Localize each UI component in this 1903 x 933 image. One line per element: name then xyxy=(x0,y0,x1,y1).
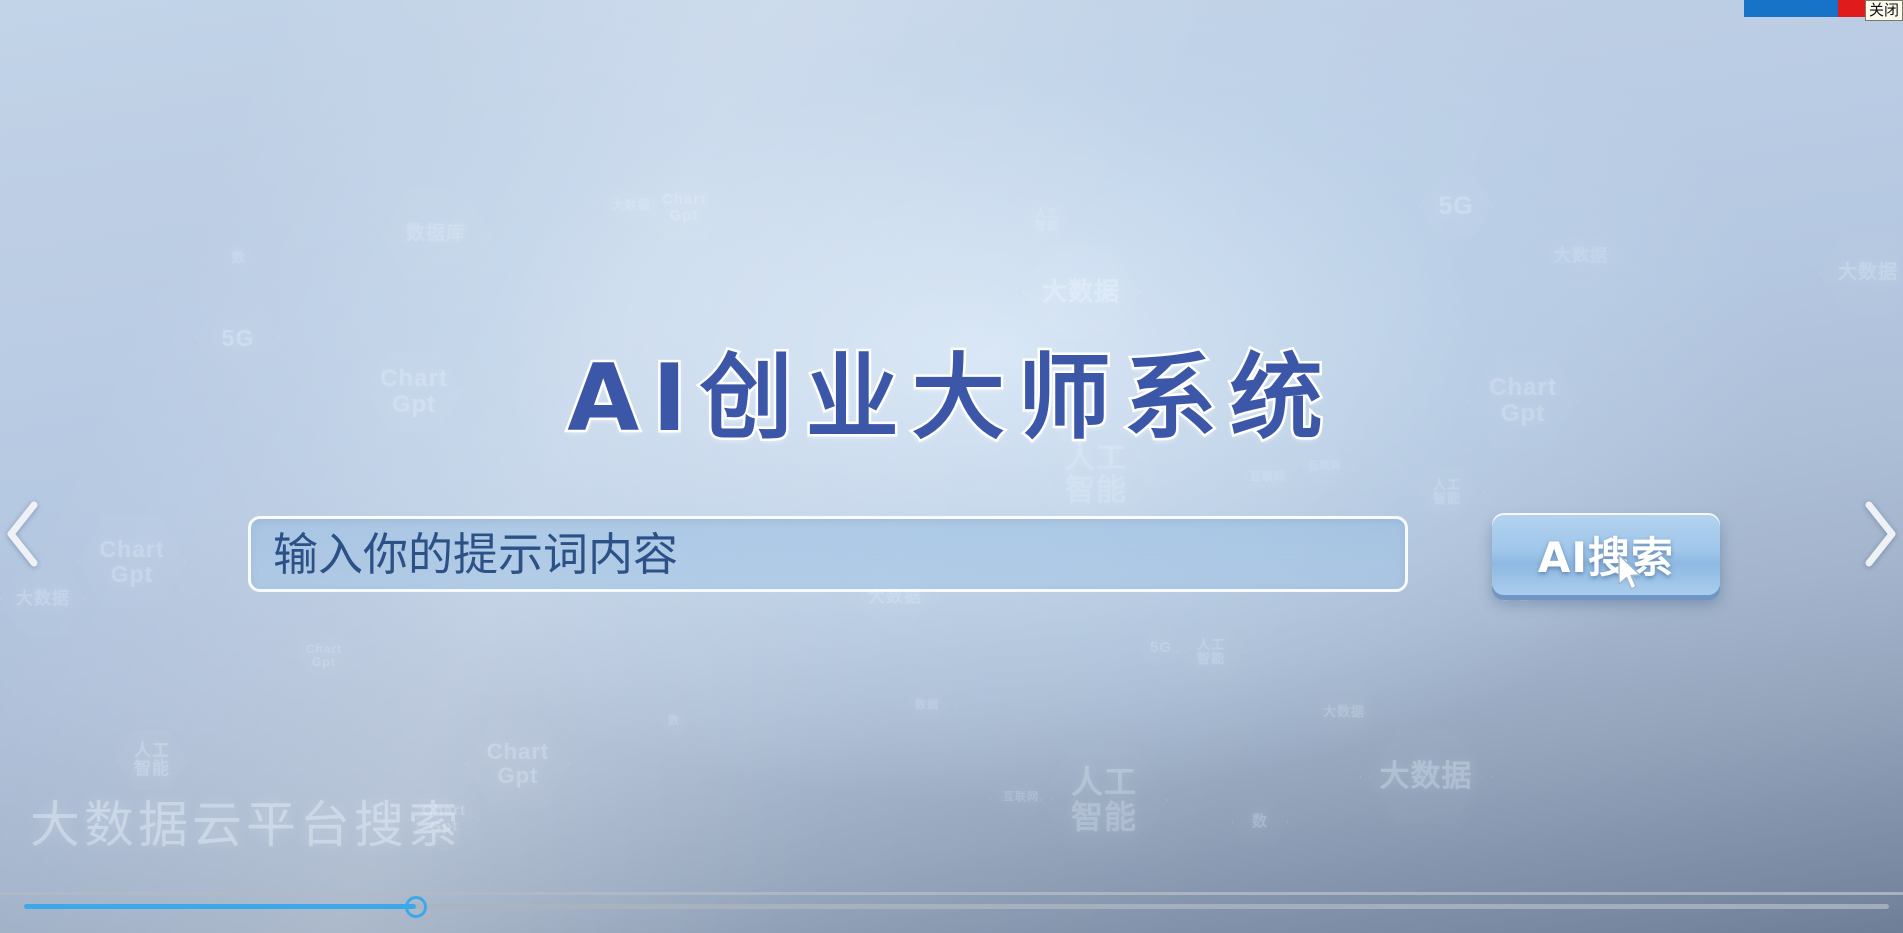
hex-outline xyxy=(597,175,665,235)
hex-inner-outline xyxy=(1317,689,1371,735)
page-title: AI创业大师系统 xyxy=(0,322,1903,457)
hex-outline xyxy=(645,172,723,244)
hex-inner-outline xyxy=(389,194,483,274)
hex-label: 数据 xyxy=(915,700,939,712)
hex-label: Chart Gpt xyxy=(99,537,164,587)
hex-outline xyxy=(1130,620,1192,676)
hex-inner-outline xyxy=(1369,727,1483,827)
bottom-watermark-text: 大数据云平台搜索 xyxy=(30,785,462,857)
hex-outline xyxy=(1176,620,1246,684)
hex-inner-outline xyxy=(907,689,947,723)
hex-outline xyxy=(898,680,956,732)
hex-inner-outline xyxy=(1185,629,1237,675)
background-hex-node: 数 xyxy=(650,700,698,744)
hex-outline xyxy=(1360,718,1492,836)
background-hex-node: Chart Gpt xyxy=(292,626,356,686)
background-hex-node: 数 xyxy=(1232,796,1288,848)
hex-label: 数 xyxy=(232,251,246,265)
slider-thumb[interactable] xyxy=(405,896,427,918)
background-hex-node: 数 xyxy=(215,236,263,280)
hex-label: 人工 智能 xyxy=(1071,765,1137,834)
hex-outline xyxy=(990,770,1052,826)
hex-label: 大数据 xyxy=(1042,279,1120,306)
hex-inner-outline xyxy=(117,729,187,791)
hex-label: 人工 智能 xyxy=(134,742,170,779)
hex-outline xyxy=(650,700,698,744)
hex-label: 大数据 xyxy=(1838,263,1898,284)
background-hex-node: 大数据 xyxy=(1308,680,1380,744)
hex-outline xyxy=(78,512,186,612)
hex-label: 数 xyxy=(1252,814,1268,830)
hex-outline xyxy=(466,716,570,812)
hex-inner-outline xyxy=(1241,805,1279,839)
hex-label: 大数据 xyxy=(1380,761,1473,793)
hex-label: 互联网 xyxy=(1309,462,1342,473)
hex-label: Chart Gpt xyxy=(487,740,549,788)
hex-label: 人工 智能 xyxy=(1197,638,1225,666)
hex-label: 互联网 xyxy=(1250,472,1286,484)
hex-label: 大数据 xyxy=(16,590,70,608)
hex-outline xyxy=(1016,192,1078,250)
background-hex-node: 大数据 xyxy=(0,560,86,638)
background-hex-node: 数据库 xyxy=(380,185,492,283)
hex-label: 人工 智能 xyxy=(1433,478,1461,506)
presentation-stage: 数据库大数据Chart Gpt5G大数据大数据人工 智能5G数Chart Gpt… xyxy=(0,0,1903,933)
hex-label: 人工 智能 xyxy=(1035,209,1059,233)
hex-inner-outline xyxy=(1829,239,1903,307)
hex-inner-outline xyxy=(1025,201,1069,241)
chevron-left-icon[interactable] xyxy=(2,497,46,571)
chevron-right-icon[interactable] xyxy=(1857,497,1901,571)
hex-inner-outline xyxy=(654,181,714,235)
hex-outline xyxy=(380,185,492,283)
timeline-slider[interactable] xyxy=(0,893,1903,919)
background-hex-node: 互联网 xyxy=(1237,450,1299,506)
hex-label: 大数据 xyxy=(1323,705,1365,719)
hex-inner-outline xyxy=(9,569,77,629)
hex-outline xyxy=(0,560,86,638)
hex-inner-outline xyxy=(301,635,347,677)
prompt-input[interactable] xyxy=(248,516,1408,592)
hex-inner-outline xyxy=(1139,629,1183,667)
hex-label: 互联网 xyxy=(1003,792,1039,804)
background-hex-node: 大数据 xyxy=(597,175,665,235)
background-hex-node: 5G xyxy=(1410,165,1502,247)
hex-outline xyxy=(215,236,263,280)
top-red-close-box[interactable] xyxy=(1838,0,1865,17)
hex-outline xyxy=(292,626,356,686)
hex-label: 5G xyxy=(1438,193,1473,220)
slider-fill xyxy=(24,904,416,909)
background-hex-node: 数据 xyxy=(898,680,956,732)
hex-label: Chart Gpt xyxy=(306,643,342,669)
hex-inner-outline xyxy=(659,709,689,735)
hex-outline xyxy=(1232,796,1288,848)
hex-label: 大数据 xyxy=(1554,247,1608,265)
search-row: AI搜索 xyxy=(248,508,1728,600)
background-hex-node: 5G xyxy=(1130,620,1192,676)
background-hex-node: 人工 智能 xyxy=(1176,620,1246,684)
background-hex-node: Chart Gpt xyxy=(78,512,186,612)
background-hex-node: 大数据 xyxy=(1820,230,1903,316)
background-hex-node: 互联网 xyxy=(990,770,1052,826)
background-hex-node: 人工 智能 xyxy=(1040,742,1168,858)
hex-inner-outline xyxy=(224,245,254,271)
background-hex-node: Chart Gpt xyxy=(645,172,723,244)
background-hex-node: 大数据 xyxy=(1360,718,1492,836)
hex-outline xyxy=(1820,230,1903,316)
background-hex-node: 人工 智能 xyxy=(1016,192,1078,250)
hex-outline xyxy=(1410,165,1502,247)
hex-label: 5G xyxy=(1150,640,1172,656)
hex-outline xyxy=(1237,450,1299,506)
ai-search-button[interactable]: AI搜索 xyxy=(1492,513,1720,595)
hex-inner-outline xyxy=(1419,174,1493,238)
hex-inner-outline xyxy=(1049,751,1159,849)
hex-outline xyxy=(1040,742,1168,858)
background-hex-node: Chart Gpt xyxy=(466,716,570,812)
background-hex-node: 大数据 xyxy=(1538,218,1624,294)
hex-label: 数据库 xyxy=(406,224,466,245)
hex-inner-outline xyxy=(999,779,1043,817)
hex-inner-outline xyxy=(87,521,177,603)
hex-inner-outline xyxy=(475,725,561,803)
hex-label: Chart Gpt xyxy=(662,192,706,224)
hex-outline xyxy=(1538,218,1624,294)
close-tooltip: 关闭 xyxy=(1865,0,1903,21)
hex-inner-outline xyxy=(1547,227,1615,285)
hex-inner-outline xyxy=(606,184,656,226)
hex-inner-outline xyxy=(1246,459,1290,497)
hex-label: 大数据 xyxy=(611,199,650,212)
hex-label: 数 xyxy=(668,716,680,728)
hex-outline xyxy=(1308,680,1380,744)
